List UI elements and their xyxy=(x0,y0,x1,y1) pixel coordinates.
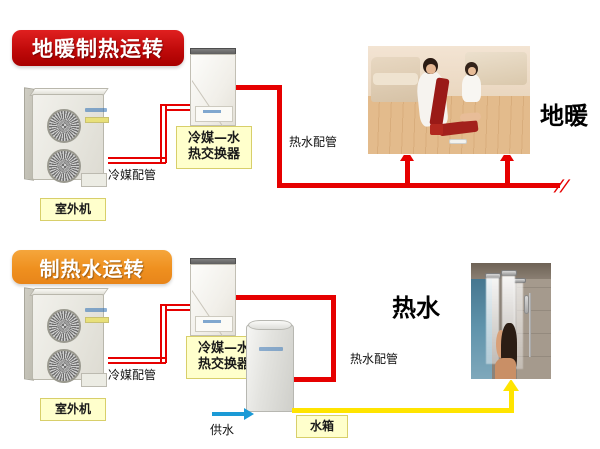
shower-hot-water-photo xyxy=(470,262,552,380)
outdoor-unit-body xyxy=(32,94,104,180)
outdoor-unit-bottom xyxy=(24,286,116,390)
fan-icon xyxy=(47,109,81,143)
hot-water-pipe-label-top: 热水配管 xyxy=(289,133,337,150)
arrow-up-icon xyxy=(503,379,519,391)
supply-water-line xyxy=(212,412,246,416)
outdoor-unit-label-bottom: 室外机 xyxy=(40,398,106,421)
hot-water-pipe-segment xyxy=(277,85,282,188)
hydrobox-diagonal-line xyxy=(192,64,236,134)
tank-outlet-pipe xyxy=(292,408,514,413)
hydrobox-control-panel xyxy=(195,316,233,332)
hydrobox-body xyxy=(190,54,236,126)
refrigerant-pipe-label-bottom: 冷媒配管 xyxy=(108,366,156,383)
outdoor-unit-label-top: 室外机 xyxy=(40,198,106,221)
water-tank xyxy=(246,318,294,414)
brand-logo xyxy=(203,320,221,323)
water-tank-body xyxy=(246,324,294,412)
section-title-floor-heating: 地暖制热运转 xyxy=(12,30,184,66)
brand-logo xyxy=(203,110,221,113)
hydrobox-diagonal-line xyxy=(192,274,236,344)
water-tank-top xyxy=(248,320,292,330)
unit-badge xyxy=(85,317,109,323)
hydrobox-unit-bottom xyxy=(190,256,236,336)
arrow-right-icon xyxy=(244,408,254,420)
floor-heating-riser xyxy=(505,160,510,186)
living-room-floor-heating-photo xyxy=(367,45,531,155)
water-tank-label: 水箱 xyxy=(296,415,348,438)
brand-logo xyxy=(259,347,283,351)
hydrobox-body xyxy=(190,264,236,336)
hydrobox-unit-top xyxy=(190,46,236,126)
tank-outlet-riser xyxy=(509,390,514,413)
outdoor-unit-body xyxy=(32,294,104,380)
fan-icon xyxy=(47,349,81,383)
section-title-hot-water: 制热水运转 xyxy=(12,250,172,284)
pipe-break-marker: // xyxy=(556,178,568,194)
heat-exchanger-label-top: 冷媒—水 热交换器 xyxy=(176,126,252,169)
result-label-hot-water: 热水 xyxy=(392,288,440,323)
floor-heating-riser xyxy=(405,160,410,186)
result-label-floor-heating: 地暖 xyxy=(540,96,588,131)
hot-water-pipe-segment xyxy=(236,85,282,90)
refrigerant-pipe-label-top: 冷媒配管 xyxy=(108,166,156,183)
unit-badge xyxy=(85,117,109,123)
unit-access-hatch xyxy=(81,373,107,387)
fan-icon xyxy=(47,309,81,343)
hot-water-pipe-segment xyxy=(277,183,560,188)
brand-logo xyxy=(85,108,107,112)
unit-access-hatch xyxy=(81,173,107,187)
hot-water-pipe-segment-bottom xyxy=(236,295,336,300)
hot-water-pipe-to-tank xyxy=(292,377,336,382)
hot-water-pipe-label-bottom: 热水配管 xyxy=(350,350,398,367)
brand-logo xyxy=(85,308,107,312)
supply-water-label: 供水 xyxy=(210,421,234,438)
hot-water-pipe-segment-bottom xyxy=(331,295,336,382)
fan-icon xyxy=(47,149,81,183)
outdoor-unit-top xyxy=(24,86,116,190)
diagram-canvas: 地暖制热运转 室外机 冷媒配管 xyxy=(0,0,600,449)
hydrobox-control-panel xyxy=(195,106,233,122)
